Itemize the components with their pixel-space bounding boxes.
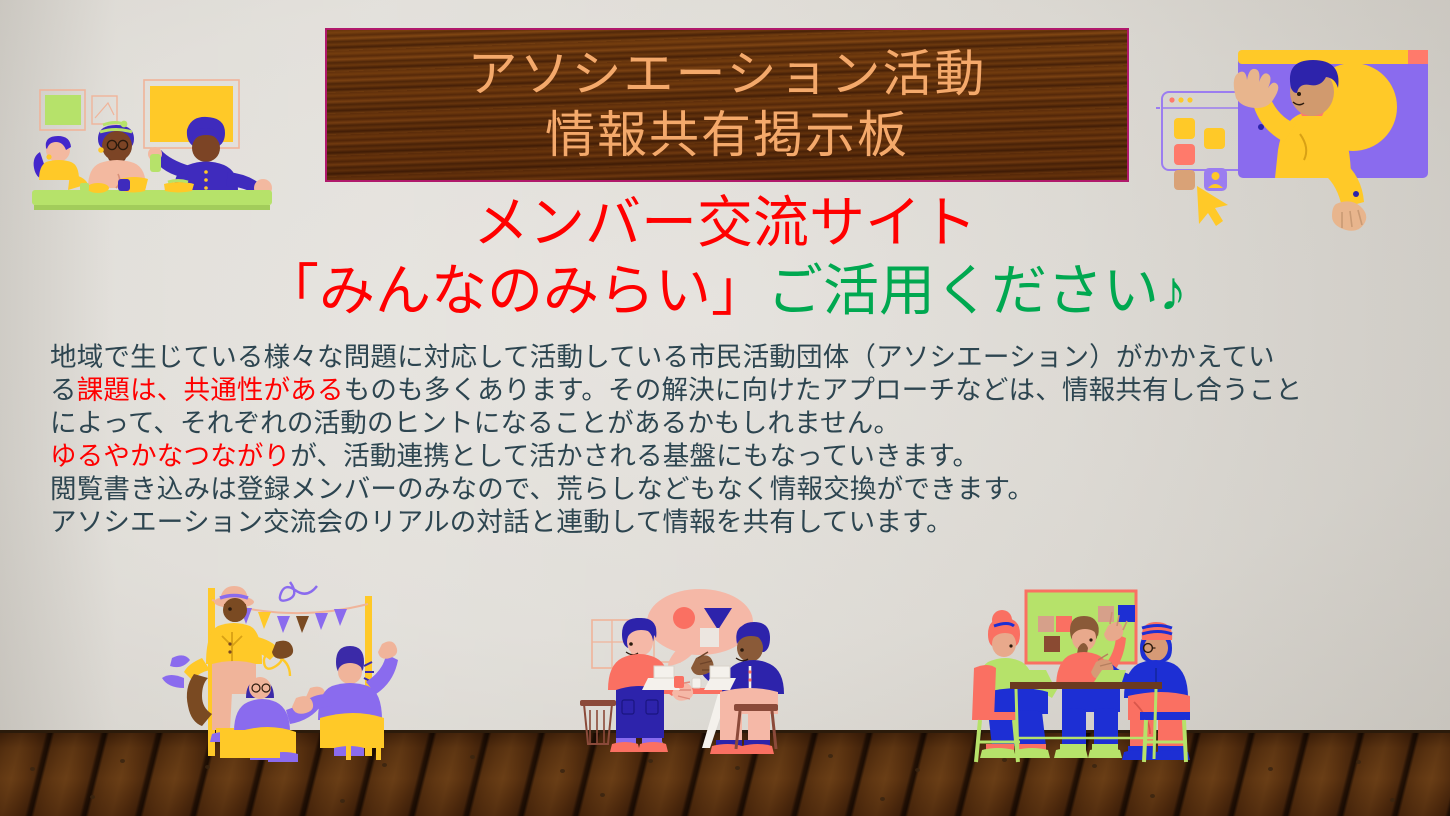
body-text: る <box>50 375 77 405</box>
headline-block: メンバー交流サイト 「みんなのみらい」ご活用ください♪ <box>0 192 1450 321</box>
body-line: アソシエーション交流会のリアルの対話と連動して情報を共有しています。 <box>50 506 1410 539</box>
headline-line-1: メンバー交流サイト <box>0 192 1450 254</box>
body-emphasis-text: 課題は、共通性がある <box>77 375 344 405</box>
body-text: 地域で生じている様々な問題に対応して活動している市民活動団体（アソシエーション）… <box>50 342 1275 372</box>
headline-line-2-red: 「みんなのみらい」 <box>263 259 767 322</box>
headline-line-2-green: ご活用ください♪ <box>767 259 1187 322</box>
body-line: によって、それぞれの活動のヒントになることがあるかもしれません。 <box>50 407 1410 440</box>
body-text: ものも多くあります。その解決に向けたアプローチなどは、情報共有し合うこと <box>344 375 1303 405</box>
body-line: ゆるやかなつながりが、活動連携として活かされる基盤にもなっていきます。 <box>50 440 1410 473</box>
party-banner-three-people-illustration <box>150 570 430 770</box>
headline-line-2: 「みんなのみらい」ご活用ください♪ <box>0 260 1450 322</box>
body-text: によって、それぞれの活動のヒントになることがあるかもしれません。 <box>50 408 900 438</box>
body-line: 地域で生じている様々な問題に対応して活動している市民活動団体（アソシエーション）… <box>50 341 1410 374</box>
body-text: 閲覧書き込みは登録メンバーのみなので、荒らしなどもなく情報交換ができます。 <box>50 474 1034 504</box>
body-text: が、活動連携として活かされる基盤にもなっていきます。 <box>290 441 979 471</box>
title-banner: アソシエーション活動 情報共有掲示板 <box>325 28 1129 182</box>
body-emphasis-text: ゆるやかなつながり <box>50 441 290 471</box>
body-line: 閲覧書き込みは登録メンバーのみなので、荒らしなどもなく情報交換ができます。 <box>50 473 1410 506</box>
laptop-discussion-two-people-illustration <box>570 580 800 770</box>
body-text: アソシエーション交流会のリアルの対話と連動して情報を共有しています。 <box>50 507 953 537</box>
banner-line-2: 情報共有掲示板 <box>545 105 909 166</box>
slide-canvas: アソシエーション活動 情報共有掲示板 メンバー交流サイト 「みんなのみらい」ご活… <box>0 0 1450 816</box>
whiteboard-meeting-three-people-illustration <box>952 578 1212 774</box>
body-paragraph: 地域で生じている様々な問題に対応して活動している市民活動団体（アソシエーション）… <box>50 341 1410 539</box>
banner-line-1: アソシエーション活動 <box>468 44 987 105</box>
body-line: る課題は、共通性があるものも多くあります。その解決に向けたアプローチなどは、情報… <box>50 374 1410 407</box>
